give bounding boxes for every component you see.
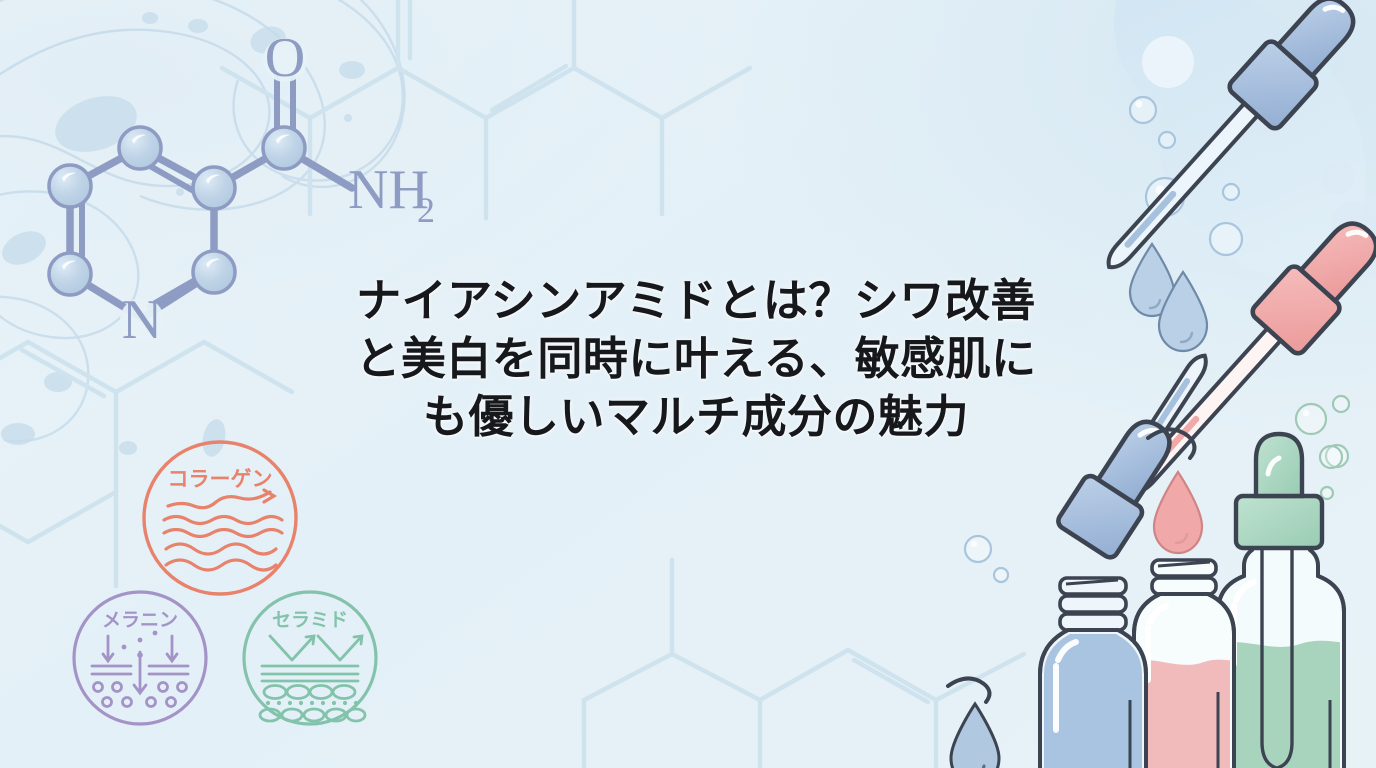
page-title: ナイアシンアミドとは？シワ改善 と美白を同時に叶える、敏感肌に も優しいマルチ成… [280, 272, 1112, 446]
badge-collagen: コラーゲン [144, 442, 296, 594]
poster-canvas: O N NH 2 コラーゲン メラニン [0, 0, 1376, 768]
molecule-label-nitrogen: N [122, 289, 162, 351]
ceramide-barrier-icon [260, 636, 365, 721]
badge-melanin: メラニン [74, 592, 206, 724]
page-title-line-2: と美白を同時に叶える、敏感肌に [280, 330, 1112, 388]
melanin-arrows-icon [92, 631, 188, 707]
badge-collagen-label: コラーゲン [168, 468, 273, 491]
badge-ceramide: セラミド [244, 592, 376, 724]
badge-melanin-label: メラニン [102, 610, 178, 631]
molecule-label-oxygen: O [265, 27, 305, 89]
page-title-line-1: ナイアシンアミドとは？シワ改善 [280, 272, 1112, 330]
droplet-pink [1154, 472, 1202, 553]
page-title-line-3: も優しいマルチ成分の魅力 [280, 388, 1112, 446]
badge-ceramide-label: セラミド [272, 610, 348, 631]
droplet-blue-bottom [951, 704, 999, 768]
molecule-label-amine-subscript: 2 [417, 190, 435, 230]
collagen-wave-icon [164, 490, 282, 570]
